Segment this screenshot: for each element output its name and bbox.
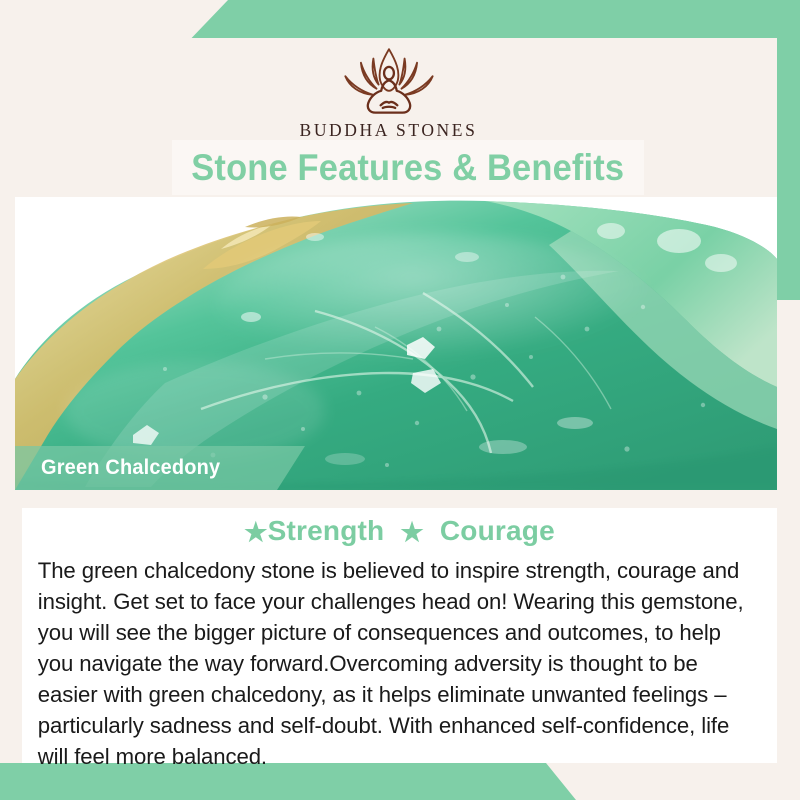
content-card: ★Strength★Courage The green chalcedony s… <box>22 508 777 763</box>
title-banner: Stone Features & Benefits <box>172 140 644 195</box>
keyword-courage: Courage <box>440 515 555 546</box>
star-icon-strength: ★ <box>244 517 268 547</box>
keyword-strength: Strength <box>268 515 385 546</box>
brand-header: BUDDHA STONES <box>0 38 777 143</box>
star-icon-courage: ★ <box>400 517 424 547</box>
lotus-meditation-icon <box>337 44 441 118</box>
decoration-right-green-strip <box>777 0 800 300</box>
green-chalcedony-rough-stone-photo: Green Chalcedony <box>15 197 777 490</box>
stone-name-ribbon: Green Chalcedony <box>15 446 305 490</box>
keyword-line: ★Strength★Courage <box>22 508 777 547</box>
poster-canvas: BUDDHA STONES Stone Features & Benefits <box>0 0 800 800</box>
page-title: Stone Features & Benefits <box>192 149 625 186</box>
stone-name-label: Green Chalcedony <box>41 456 220 480</box>
body-description: The green chalcedony stone is believed t… <box>22 547 766 772</box>
brand-wordmark: BUDDHA STONES <box>300 120 478 141</box>
